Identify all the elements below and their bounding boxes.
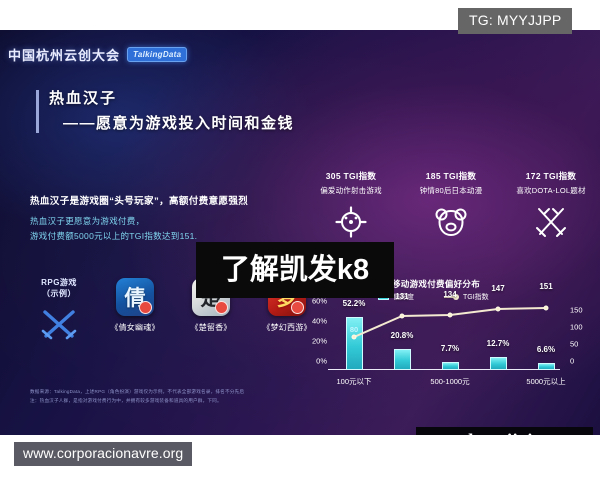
tgi-stat-card: 305 TGI指数 偏爱动作射击游戏 <box>305 170 397 239</box>
watermark-center-text: 了解凯发k8 <box>221 256 369 285</box>
tgi-data-point <box>544 306 549 311</box>
y-axis-right-tick: 150 <box>570 306 583 315</box>
talkingdata-logo: TalkingData <box>127 47 187 62</box>
tgi-stat-value: 185 TGI指数 <box>405 170 497 182</box>
presentation-slide: 中国杭州云创大会 TalkingData 热血汉子 ——愿意为游戏投入时间和金钱… <box>0 30 600 435</box>
rpg-label-line2: （示例） <box>41 289 77 300</box>
tgi-data-point <box>400 314 405 319</box>
tgi-stat-value: 305 TGI指数 <box>305 170 397 182</box>
tgi-stat-card: 172 TGI指数 喜欢DOTA-LOL题材 <box>505 170 597 239</box>
y-axis-left-tick: 40% <box>312 317 327 326</box>
tgi-stats-row: 305 TGI指数 偏爱动作射击游戏 <box>305 170 597 239</box>
game-item[interactable]: 倩 《倩女幽魂》 <box>104 278 166 333</box>
y-axis-right-tick: 0 <box>570 357 574 366</box>
notification-badge <box>215 301 228 314</box>
slide-title-block: 热血汉子 ——愿意为游戏投入时间和金钱 <box>36 90 294 133</box>
watermark-bottom-left-text: www.corporacionavre.org <box>23 445 183 461</box>
x-axis-labels: 100元以下 500-1000元 5000元以上 <box>324 376 564 388</box>
copy-line-1: 热血汉子更愿意为游戏付费， <box>30 214 290 229</box>
tgi-value-label: 80 <box>350 325 358 334</box>
game-name: 《楚留香》 <box>191 322 232 333</box>
tgi-value-label: 134 <box>443 290 456 299</box>
x-axis-label: 100元以下 <box>336 376 371 387</box>
y-axis-right-tick: 50 <box>570 340 578 349</box>
legend-label: TGI指数 <box>463 292 489 302</box>
y-axis-left-tick: 0% <box>316 357 327 366</box>
screenshot-root: 中国杭州云创大会 TalkingData 热血汉子 ——愿意为游戏投入时间和金钱… <box>0 0 600 480</box>
rpg-label-line1: RPG游戏 <box>41 278 77 289</box>
tgi-stat-desc: 钟情80后日本动漫 <box>405 185 497 196</box>
chart-plot-area: 0% 20% 40% 60% 0 50 100 150 52.2% 20.8% … <box>332 308 554 370</box>
crosshair-target-icon <box>305 205 397 239</box>
tgi-value-label: 151 <box>539 282 552 291</box>
tgi-line-series <box>332 308 564 370</box>
watermark-center: 了解凯发k8 <box>196 242 394 298</box>
tgi-value-label: 147 <box>491 284 504 293</box>
tgi-stat-value: 172 TGI指数 <box>505 170 597 182</box>
x-axis-label: 5000元以上 <box>526 376 565 387</box>
tgi-stat-card: 185 TGI指数 钟情80后日本动漫 <box>405 170 497 239</box>
watermark-top-right-text: TG: MYYJJPP <box>469 12 561 28</box>
footnote-source: 数据来源：TalkingData，上述RPG（角色扮演）游戏仅为示例，不代表全部… <box>30 388 275 397</box>
watermark-bottom-right: www.buerjixie.com <box>416 427 593 435</box>
tgi-data-point <box>448 313 453 318</box>
watermark-bottom-left: www.corporacionavre.org <box>14 442 192 466</box>
copy-block: 热血汉子是游戏圈“头号玩家”，高额付费意愿强烈 热血汉子更愿意为游戏付费， 游戏… <box>30 195 290 244</box>
crossed-swords-icon <box>39 307 79 346</box>
game-icon-qiannvyouhun[interactable]: 倩 <box>116 278 154 316</box>
watermark-bottom-right-text: www.buerjixie.com <box>426 432 583 435</box>
page-title: 热血汉子 <box>49 90 294 109</box>
tgi-data-point <box>352 335 357 340</box>
tgi-stat-desc: 喜欢DOTA-LOL题材 <box>505 185 597 196</box>
tgi-stat-desc: 偏爱动作射击游戏 <box>305 185 397 196</box>
tgi-data-point <box>496 307 501 312</box>
footnote-note: 注：热血汉子人群，是指对游戏付费行为中，并拥有较多游戏装备和道具的用户群，下同。 <box>30 397 275 406</box>
crossed-swords-icon <box>505 205 597 239</box>
footnotes: 数据来源：TalkingData，上述RPG（角色扮演）游戏仅为示例，不代表全部… <box>30 388 275 405</box>
tgi-value-label: 131 <box>395 292 408 301</box>
copy-lead: 热血汉子是游戏圈“头号玩家”，高额付费意愿强烈 <box>30 195 290 209</box>
y-axis-right-tick: 100 <box>570 323 583 332</box>
x-axis-label: 500-1000元 <box>430 376 469 387</box>
page-subtitle: ——愿意为游戏投入时间和金钱 <box>63 112 294 133</box>
rpg-example-label: RPG游戏 （示例） <box>28 278 90 346</box>
watermark-top-right: TG: MYYJJPP <box>458 8 572 34</box>
conference-name: 中国杭州云创大会 <box>8 45 120 64</box>
bear-head-icon <box>405 205 497 239</box>
game-name: 《倩女幽魂》 <box>110 322 159 333</box>
notification-badge <box>139 301 152 314</box>
bar-value-label: 52.2% <box>343 299 366 308</box>
brand-bar: 中国杭州云创大会 TalkingData <box>8 45 187 64</box>
chart-title: 移动游戏付费偏好分布 <box>392 278 480 290</box>
y-axis-left-tick: 20% <box>312 337 327 346</box>
